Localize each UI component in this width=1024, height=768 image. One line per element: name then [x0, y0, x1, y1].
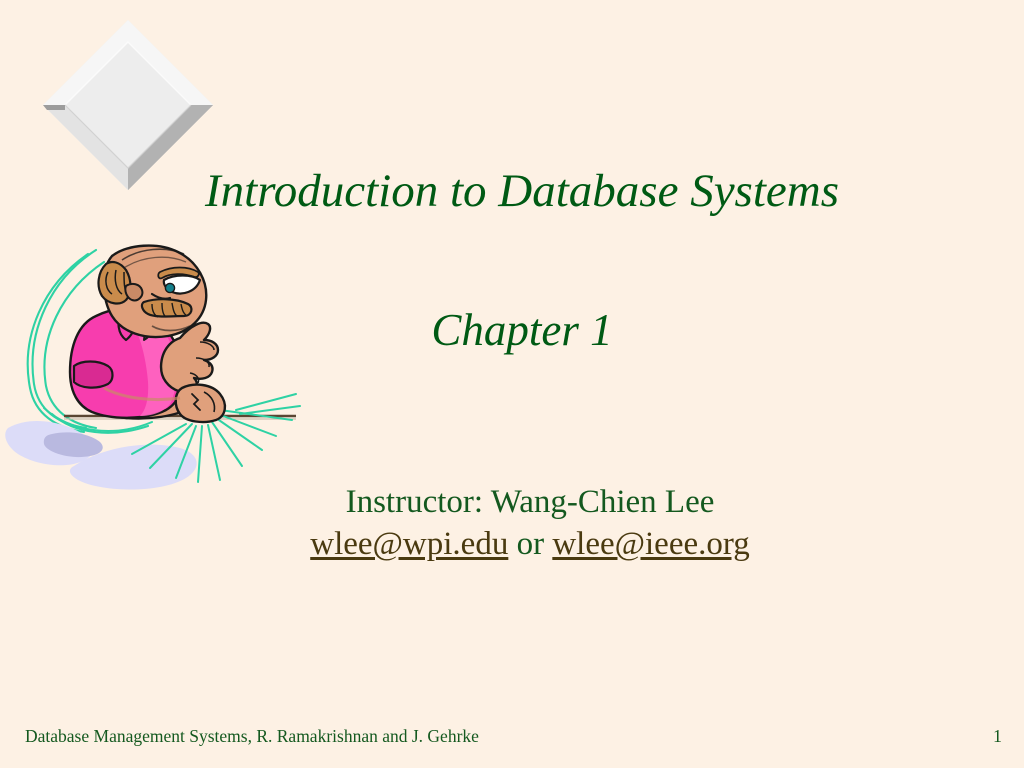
- email-conjunction: [508, 526, 516, 562]
- slide-subtitle-text: Chapter 1: [120, 308, 924, 353]
- email-link-ieee[interactable]: wlee@ieee.org: [552, 526, 749, 562]
- footer-page-number: 1: [993, 726, 1002, 747]
- instructor-email-line: wlee@wpi.edu or wlee@ieee.org: [150, 523, 910, 565]
- slide-title-text: Introduction to Database Systems: [120, 168, 924, 215]
- footer-credit-text: Database Management Systems, R. Ramakris…: [25, 726, 479, 747]
- instructor-info-block: Instructor: Wang-Chien Lee wlee@wpi.edu …: [150, 481, 910, 565]
- clipart-table-edge: [64, 416, 296, 419]
- instructor-name-line: Instructor: Wang-Chien Lee: [150, 481, 910, 523]
- clipart-paper-shapes: [5, 421, 196, 490]
- slide-subtitle: Chapter 1: [120, 308, 924, 353]
- cartoon-man-pointing-illustration: [0, 238, 320, 500]
- email-link-wpi[interactable]: wlee@wpi.edu: [310, 526, 508, 562]
- slide-footer: Database Management Systems, R. Ramakris…: [0, 726, 1024, 760]
- beveled-diamond-icon: [41, 18, 215, 192]
- page-title: Introduction to Database Systems: [120, 168, 924, 215]
- email-conjunction-text: or: [517, 526, 545, 562]
- slide-canvas: Introduction to Database Systems Chapter…: [0, 0, 1024, 768]
- clipart-action-lines: [132, 394, 300, 482]
